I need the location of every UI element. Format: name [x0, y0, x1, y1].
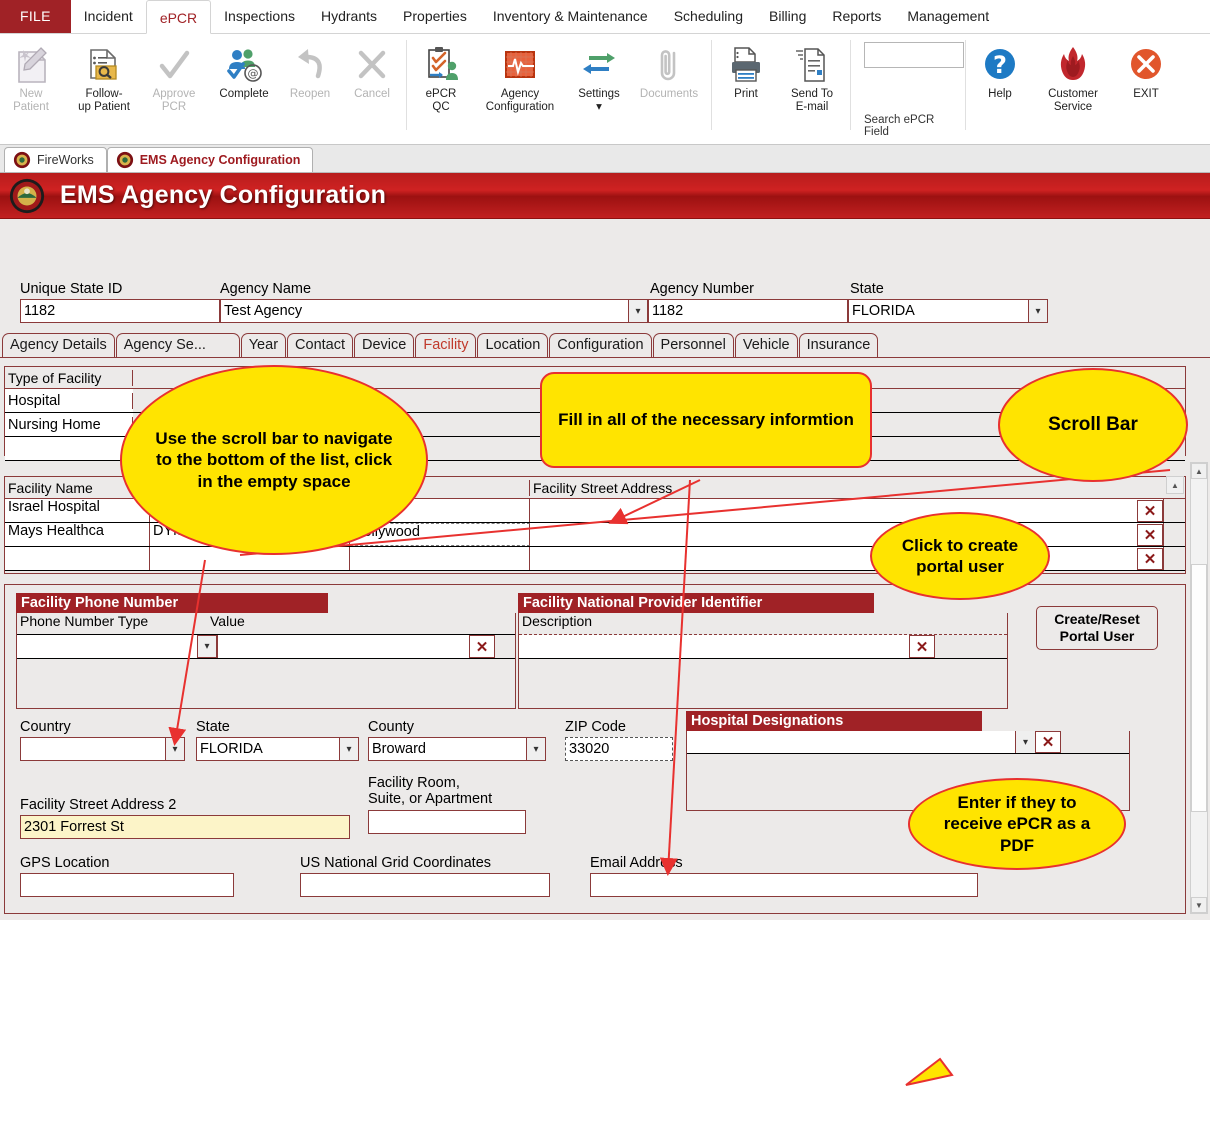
fireworks-badge-icon [13, 151, 31, 169]
facility-npi-section: Facility National Provider Identifier De… [518, 593, 1008, 709]
zip-code-group: ZIP Code 33020 [565, 719, 673, 761]
form-tab-vehicle[interactable]: Vehicle [735, 333, 798, 357]
epcr-qc-label-1: ePCR [425, 88, 458, 101]
create-reset-portal-user-button[interactable]: Create/Reset Portal User [1036, 606, 1158, 650]
settings-button[interactable]: Settings ▾ [568, 40, 630, 114]
facility-grid-scroll-up-button[interactable]: ▲ [1166, 476, 1184, 494]
chevron-down-icon-hospital-designation[interactable]: ▾ [1015, 731, 1035, 753]
page-title-bar: EMS Agency Configuration [0, 173, 1210, 219]
settings-label-1: Settings [577, 88, 621, 101]
usng-input[interactable] [300, 873, 550, 897]
ekg-monitor-icon [500, 42, 540, 88]
usng-group: US National Grid Coordinates [300, 855, 550, 897]
callout-fill-in: Fill in all of the necessary informtion [540, 372, 872, 468]
document-tab-fireworks-label: FireWorks [37, 153, 94, 167]
facility-name-cell[interactable] [5, 547, 150, 570]
send-to-email-label-2: E-mail [795, 101, 830, 114]
follow-up-patient-label-2: up Patient [77, 101, 131, 114]
form-tab-strip: Agency Details Agency Se... Year Contact… [0, 332, 1210, 358]
unique-state-id-label: Unique State ID [20, 281, 220, 297]
approve-pcr-label-1: Approve [152, 88, 197, 101]
ribbon-tab-reports[interactable]: Reports [819, 0, 894, 33]
usng-label: US National Grid Coordinates [300, 855, 550, 871]
phone-number-type-input[interactable] [17, 635, 197, 658]
new-patient-label-2: Patient [12, 101, 50, 114]
ribbon-group-tools: ePCR QC Agency Configuration [410, 34, 708, 144]
approve-pcr-button[interactable]: Approve PCR [139, 40, 209, 114]
facility-npi-title: Facility National Provider Identifier [518, 593, 874, 613]
ribbon-tab-inspections[interactable]: Inspections [211, 0, 308, 33]
delete-facility-row-button[interactable]: ✕ [1137, 500, 1163, 522]
send-to-email-label-1: Send To [790, 88, 834, 101]
npi-description-input[interactable] [519, 635, 909, 658]
reopen-label-1: Reopen [289, 88, 331, 101]
close-circle-icon [1126, 42, 1166, 88]
facility-street-address-2-input[interactable]: 2301 Forrest St [20, 815, 350, 839]
cancel-label-1: Cancel [353, 88, 391, 101]
undo-arrow-icon [290, 42, 330, 88]
help-button[interactable]: ? Help [969, 40, 1031, 101]
new-patient-button[interactable]: New Patient [0, 40, 62, 114]
scroll-up-arrow-icon[interactable]: ▲ [1191, 463, 1207, 479]
document-tab-ems-label: EMS Agency Configuration [140, 153, 301, 167]
fireworks-logo-icon [1053, 42, 1093, 88]
callout-pdf-text: Enter if they to receive ePCR as a PDF [928, 792, 1106, 856]
people-check-at-icon: @ [222, 42, 266, 88]
ribbon-toolbar: New Patient Follow- up Patient [0, 34, 1210, 145]
hospital-designations-title: Hospital Designations [686, 711, 982, 731]
callout-pdf: Enter if they to receive ePCR as a PDF [908, 778, 1126, 870]
search-epcr-field-input[interactable] [864, 42, 964, 68]
form-tab-contact[interactable]: Contact [287, 333, 353, 357]
callout-portal-user-text: Click to create portal user [888, 535, 1032, 578]
ribbon-tab-hydrants[interactable]: Hydrants [308, 0, 390, 33]
clipboard-check-person-icon [420, 42, 462, 88]
scrollbar-thumb[interactable] [1191, 564, 1207, 812]
ribbon-separator-2 [406, 40, 407, 130]
settings-dropdown-caret[interactable]: ▾ [595, 101, 603, 114]
zip-code-input[interactable]: 33020 [565, 737, 673, 761]
exit-button[interactable]: EXIT [1115, 40, 1177, 101]
state-input[interactable]: FLORIDA [848, 299, 1028, 323]
print-label-1: Print [733, 88, 759, 101]
email-address-input[interactable] [590, 873, 978, 897]
agency-name-group: Agency Name [220, 281, 650, 297]
scroll-down-arrow-icon[interactable]: ▼ [1191, 897, 1207, 913]
question-mark-circle-icon: ? [980, 42, 1020, 88]
facility-state-combo[interactable]: FLORIDA ▾ [196, 737, 359, 761]
chevron-down-icon-agency-name[interactable]: ▾ [628, 299, 648, 323]
county-group: County Broward ▾ [368, 719, 546, 761]
agency-name-combo[interactable]: Test Agency ▾ [220, 299, 648, 323]
callout-fill-in-text: Fill in all of the necessary informtion [558, 409, 854, 430]
follow-up-patient-button[interactable]: Follow- up Patient [69, 40, 139, 114]
documents-label-1: Documents [639, 88, 699, 101]
hospital-designation-input[interactable] [687, 731, 1015, 753]
delete-facility-row-button[interactable]: ✕ [1137, 548, 1163, 570]
ribbon-group-output: Print Send To E-mail [715, 34, 847, 144]
state-label: State [850, 281, 1050, 297]
facility-phone-number-section: Facility Phone Number Phone Number Type … [16, 593, 516, 709]
agency-number-label: Agency Number [650, 281, 850, 297]
main-vertical-scrollbar[interactable]: ▲ ▼ [1190, 462, 1208, 914]
facility-name-cell[interactable]: Israel Hospital [5, 499, 150, 522]
type-of-facility-cell[interactable]: Hospital [5, 393, 133, 409]
chevron-down-icon-facility-state[interactable]: ▾ [339, 737, 359, 761]
header-fields: Unique State ID Agency Name Agency Numbe… [20, 281, 1192, 323]
facility-state-input[interactable]: FLORIDA [196, 737, 339, 761]
form-tab-location[interactable]: Location [477, 333, 548, 357]
county-input[interactable]: Broward [368, 737, 526, 761]
paperclip-icon [649, 42, 689, 88]
ribbon-tab-incident[interactable]: Incident [71, 0, 146, 33]
customer-service-label-1: Customer [1047, 88, 1099, 101]
x-icon [352, 42, 392, 88]
state-group: State [850, 281, 1050, 297]
delete-hospital-designation-button[interactable]: ✕ [1035, 731, 1061, 753]
form-tab-year[interactable]: Year [241, 333, 286, 357]
facility-street-address-2-label: Facility Street Address 2 [20, 797, 350, 813]
facility-room-label-1: Facility Room, [368, 775, 526, 791]
ribbon-tab-billing[interactable]: Billing [756, 0, 819, 33]
ribbon-group-help: ? Help Customer Service [969, 34, 1184, 144]
gps-location-label: GPS Location [20, 855, 234, 871]
hospital-designation-combo[interactable]: ▾ [687, 731, 1035, 753]
ribbon-tab-scheduling[interactable]: Scheduling [661, 0, 756, 33]
scrollbar-track-bottom[interactable] [1191, 812, 1207, 897]
country-group: Country ▾ [20, 719, 185, 761]
epcr-qc-label-2: QC [431, 101, 450, 114]
form-tab-agency-settings[interactable]: Agency Se... [116, 333, 240, 357]
gps-location-group: GPS Location [20, 855, 234, 897]
gps-location-input[interactable] [20, 873, 234, 897]
chevron-down-icon-country[interactable]: ▾ [165, 737, 185, 761]
agency-name-label: Agency Name [220, 281, 650, 297]
new-document-icon [11, 42, 51, 88]
facility-room-group: Facility Room, Suite, or Apartment [368, 775, 526, 834]
create-reset-portal-user-label-2: Portal User [1060, 628, 1135, 645]
create-reset-portal-user-label-1: Create/Reset [1054, 611, 1140, 628]
complete-label-1: Complete [218, 88, 269, 101]
chevron-down-icon-phone-type[interactable]: ▾ [197, 635, 217, 658]
phone-number-type-column-header: Phone Number Type [17, 613, 207, 634]
send-document-icon [791, 42, 833, 88]
email-address-group: Email Address [590, 855, 978, 897]
ribbon-tab-epcr[interactable]: ePCR [146, 0, 211, 34]
form-tab-configuration[interactable]: Configuration [549, 333, 651, 357]
form-tab-facility[interactable]: Facility [415, 333, 476, 357]
zip-code-label: ZIP Code [565, 719, 673, 735]
column-header-facility-street-address: Facility Street Address [530, 480, 1137, 496]
ribbon-separator-5 [965, 40, 966, 130]
country-label: Country [20, 719, 185, 735]
checkmark-icon [154, 42, 194, 88]
exit-label: EXIT [1132, 88, 1160, 101]
complete-button[interactable]: @ Complete [209, 40, 279, 101]
unique-state-id-input[interactable]: 1182 [20, 299, 220, 323]
callout-scroll-bar: Scroll Bar [998, 368, 1188, 482]
help-label: Help [987, 88, 1013, 101]
city-cell[interactable] [350, 547, 530, 570]
callout-portal-user: Click to create portal user [870, 512, 1050, 600]
document-tab-fireworks[interactable]: FireWorks [4, 147, 107, 172]
chevron-down-icon-state[interactable]: ▾ [1028, 299, 1048, 323]
agency-configuration-button[interactable]: Agency Configuration [472, 40, 568, 114]
cancel-button[interactable]: Cancel [341, 40, 403, 101]
facility-state-group: State FLORIDA ▾ [196, 719, 359, 761]
file-menu-tab[interactable]: FILE [0, 0, 71, 33]
facility-state-label: State [196, 719, 359, 735]
scrollbar-track-top[interactable] [1191, 479, 1207, 564]
callout-scroll-list: Use the scroll bar to navigate to the bo… [120, 365, 428, 555]
follow-up-patient-label-1: Follow- [84, 88, 123, 101]
type-of-facility-column-header: Type of Facility [5, 370, 133, 386]
ribbon-separator-3 [711, 40, 712, 130]
printer-icon [725, 42, 767, 88]
agency-number-group: Agency Number [650, 281, 850, 297]
fireworks-emblem-icon [8, 177, 46, 215]
agency-configuration-label-1: Agency [500, 88, 540, 101]
delete-phone-row-button[interactable]: ✕ [469, 635, 495, 658]
sync-arrows-icon [579, 42, 619, 88]
form-tab-personnel[interactable]: Personnel [653, 333, 734, 357]
type-of-facility-cell[interactable]: Nursing Home [5, 417, 133, 433]
email-address-label: Email Address [590, 855, 978, 871]
facility-phone-number-title: Facility Phone Number [16, 593, 328, 613]
documents-button[interactable]: Documents [630, 40, 708, 101]
search-epcr-field-label: Search ePCR Field [864, 114, 956, 144]
country-input[interactable] [20, 737, 165, 761]
facility-name-cell[interactable]: Mays Healthca [5, 523, 150, 546]
county-combo[interactable]: Broward ▾ [368, 737, 546, 761]
agency-number-input[interactable]: 1182 [648, 299, 848, 323]
callout-scroll-bar-text: Scroll Bar [1048, 413, 1138, 437]
form-tab-agency-details[interactable]: Agency Details [2, 333, 115, 357]
phone-value-column-header: Value [207, 613, 515, 634]
epcr-qc-button[interactable]: ePCR QC [410, 40, 472, 114]
svg-text:@: @ [248, 67, 259, 80]
callout-scroll-list-text: Use the scroll bar to navigate to the bo… [152, 428, 396, 492]
facility-street-address-2-group: Facility Street Address 2 2301 Forrest S… [20, 797, 350, 839]
facility-street-address-cell[interactable] [530, 499, 1137, 522]
svg-text:?: ? [993, 51, 1007, 79]
approve-pcr-label-2: PCR [161, 101, 187, 114]
delete-facility-row-button[interactable]: ✕ [1137, 524, 1163, 546]
fireworks-badge-icon-2 [116, 151, 134, 169]
phone-value-input[interactable] [217, 635, 469, 658]
customer-service-label-2: Service [1053, 101, 1093, 114]
document-tab-bar: FireWorks EMS Agency Configuration [0, 145, 1210, 173]
form-tab-insurance[interactable]: Insurance [799, 333, 879, 357]
agency-configuration-label-2: Configuration [485, 101, 555, 114]
page-title: EMS Agency Configuration [60, 181, 386, 210]
document-search-icon [83, 42, 125, 88]
npi-description-column-header: Description [519, 613, 1007, 634]
country-combo[interactable]: ▾ [20, 737, 185, 761]
state-combo[interactable]: FLORIDA ▾ [848, 299, 1048, 323]
form-tab-device[interactable]: Device [354, 333, 414, 357]
customer-service-button[interactable]: Customer Service [1038, 40, 1108, 114]
county-label: County [368, 719, 546, 735]
new-patient-label-1: New [18, 88, 43, 101]
unique-state-id-group: Unique State ID [20, 281, 220, 297]
delete-npi-row-button[interactable]: ✕ [909, 635, 935, 658]
chevron-down-icon-county[interactable]: ▾ [526, 737, 546, 761]
ribbon-tab-bar: FILE Incident ePCR Inspections Hydrants … [0, 0, 1210, 34]
ribbon-group-search: Search ePCR Field [854, 34, 962, 144]
ribbon-separator-4 [850, 40, 851, 130]
send-to-email-button[interactable]: Send To E-mail [777, 40, 847, 114]
facility-room-input[interactable] [368, 810, 526, 834]
ribbon-tab-inventory-maintenance[interactable]: Inventory & Maintenance [480, 0, 661, 33]
reopen-button[interactable]: Reopen [279, 40, 341, 101]
ribbon-tab-management[interactable]: Management [894, 0, 1002, 33]
facility-room-label-2: Suite, or Apartment [368, 791, 526, 807]
ribbon-tab-properties[interactable]: Properties [390, 0, 480, 33]
print-button[interactable]: Print [715, 40, 777, 101]
phone-number-type-combo[interactable]: ▾ [17, 635, 217, 658]
ribbon-group-patient: New Patient Follow- up Patient [0, 34, 403, 144]
document-tab-ems-agency-configuration[interactable]: EMS Agency Configuration [107, 147, 314, 172]
agency-name-input[interactable]: Test Agency [220, 299, 628, 323]
